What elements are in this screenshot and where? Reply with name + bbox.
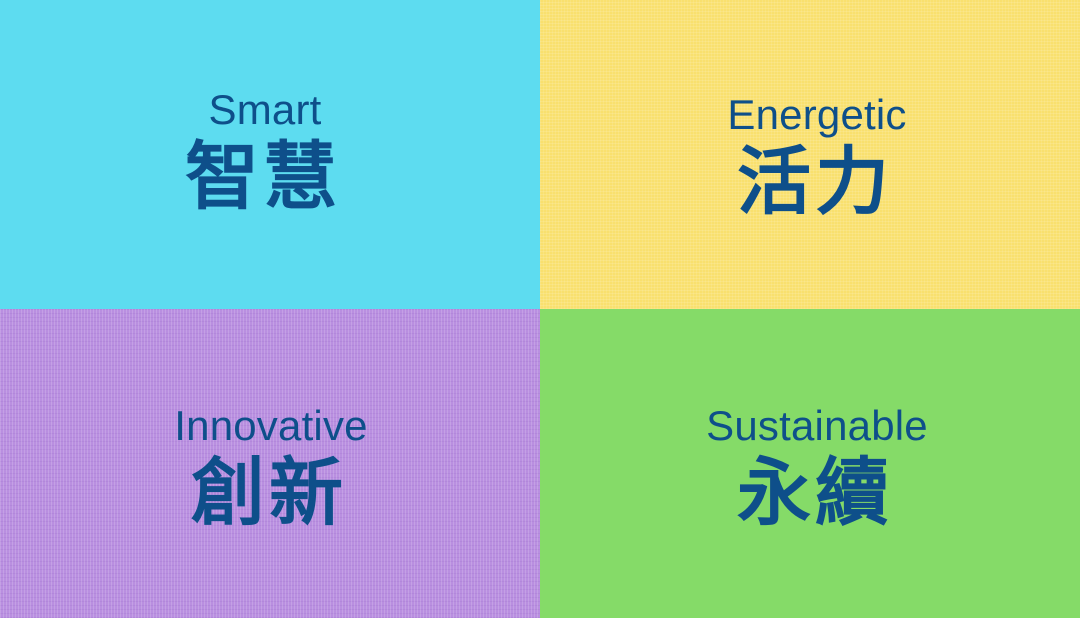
value-block-sustainable: Sustainable 永續: [540, 404, 1080, 532]
quadrant-innovative: Innovative 創新: [0, 309, 540, 618]
value-block-smart: Smart 智慧: [0, 88, 535, 216]
label-zh-innovative: 創新: [4, 453, 538, 533]
brand-values-poster: Smart 智慧 Energetic 活力 Innovative 創新 Sust…: [0, 0, 1080, 618]
label-en-innovative: Innovative: [4, 404, 538, 449]
label-zh-smart: 智慧: [0, 137, 535, 217]
label-en-sustainable: Sustainable: [554, 404, 1080, 449]
label-en-smart: Smart: [0, 88, 535, 133]
value-block-innovative: Innovative 創新: [0, 404, 538, 532]
quadrant-smart: Smart 智慧: [0, 0, 540, 309]
label-zh-energetic: 活力: [554, 142, 1080, 222]
quadrant-energetic: Energetic 活力: [540, 0, 1080, 309]
quadrant-sustainable: Sustainable 永續: [540, 309, 1080, 618]
value-block-energetic: Energetic 活力: [540, 93, 1080, 221]
label-zh-sustainable: 永續: [554, 453, 1080, 533]
label-en-energetic: Energetic: [554, 93, 1080, 138]
